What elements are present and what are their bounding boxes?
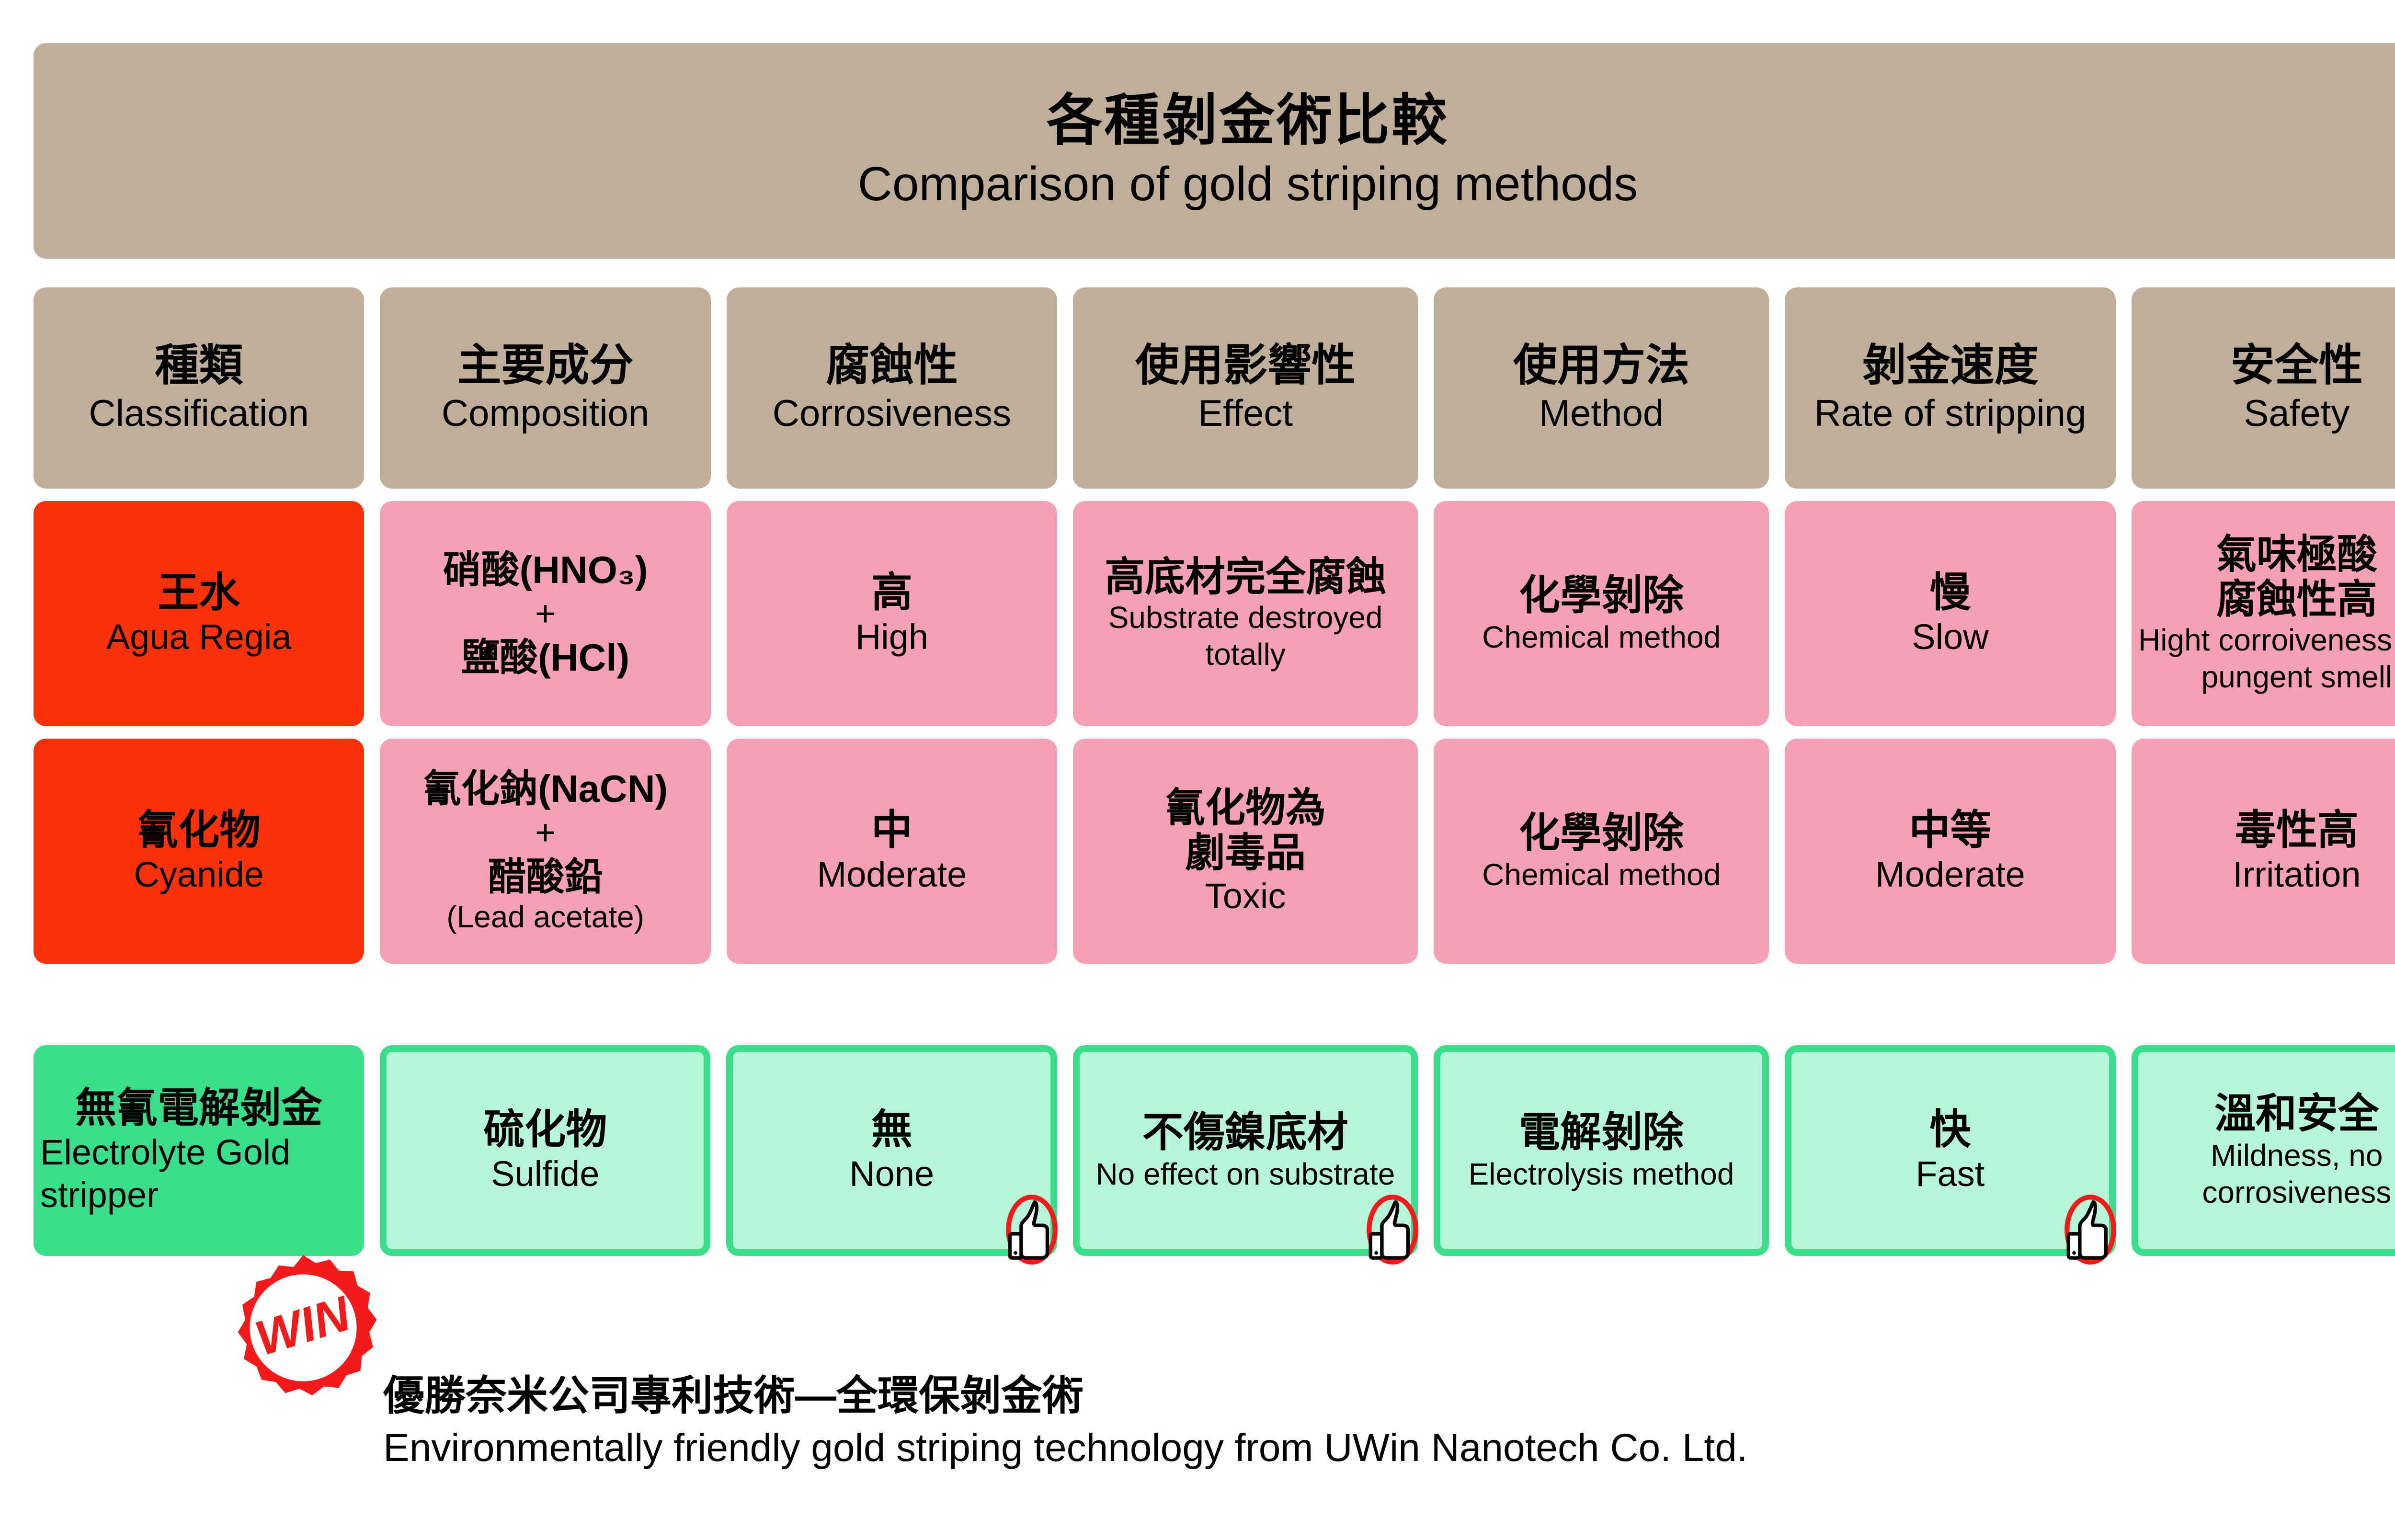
value-en: Toxic — [1205, 875, 1286, 918]
grid-gap — [1769, 739, 1785, 964]
value-en: No effect on substrate — [1095, 1156, 1395, 1193]
header-en: Classification — [89, 391, 309, 436]
cell-method-cyanide: 化學剝除 Chemical method — [1434, 739, 1769, 964]
grid-gap — [711, 501, 727, 726]
value-zh: 溫和安全 — [2214, 1090, 2379, 1137]
grid-gap — [364, 287, 380, 489]
header-zh: 使用方法 — [1513, 341, 1689, 391]
title-banner: 各種剝金術比較 Comparison of gold striping meth… — [34, 43, 2395, 259]
value-zh: 化學剝除 — [1519, 572, 1684, 619]
column-header-safety: 安全性 Safety — [2132, 287, 2395, 489]
cell-safety-agua-regia: 氣味極酸 腐蝕性高 Hight corroiveness with pungen… — [2132, 501, 2395, 726]
row-label-electrolyte-gold-stripper: 無氰電解剝金 Electrolyte Gold stripper — [34, 1045, 364, 1256]
value-en: Irritation — [2233, 854, 2361, 896]
win-seal-badge: WIN — [229, 1254, 377, 1402]
row-label-cyanide: 氰化物 Cyanide — [34, 739, 364, 964]
composition-line-2: 醋酸鉛 — [488, 855, 603, 899]
grid-gap — [1057, 739, 1073, 964]
grid-gap — [1769, 1045, 1785, 1256]
thumbs-up-icon — [1004, 1194, 1060, 1266]
header-zh: 主要成分 — [457, 341, 634, 391]
header-en: Rate of stripping — [1814, 391, 2086, 436]
grid-gap — [2116, 501, 2132, 726]
header-en: Composition — [442, 391, 650, 436]
value-zh: 毒性高 — [2235, 807, 2359, 854]
row-label-agua-regia: 王水 Agua Regia — [34, 501, 364, 726]
value-en: Fast — [1916, 1153, 1984, 1196]
table-row: 王水 Agua Regia 硝酸(HNO₃) + 鹽酸(HCl) 高 High … — [34, 501, 2395, 726]
grid-gap — [1769, 287, 1785, 489]
value-zh: 無 — [871, 1106, 912, 1153]
grid-gap — [1769, 501, 1785, 726]
value-zh: 氣味極酸 腐蝕性高 — [2216, 532, 2377, 622]
column-header-effect: 使用影響性 Effect — [1073, 287, 1418, 489]
cell-composition-electrolyte: 硫化物 Sulfide — [380, 1045, 710, 1256]
cell-composition-agua-regia: 硝酸(HNO₃) + 鹽酸(HCl) — [380, 501, 710, 726]
grid-gap — [364, 1045, 380, 1256]
grid-gap — [364, 739, 380, 964]
bottom-caption: 優勝奈米公司專利技術—全環保剝金術 Environmentally friend… — [383, 1371, 2251, 1472]
cell-method-electrolyte: 電解剝除 Electrolysis method — [1434, 1045, 1769, 1256]
value-en: Sulfide — [491, 1153, 599, 1196]
title-english: Comparison of gold striping methods — [858, 156, 1638, 212]
value-en: Electrolysis method — [1469, 1156, 1734, 1193]
header-zh: 種類 — [155, 341, 243, 391]
value-zh: 電解剝除 — [1519, 1109, 1684, 1156]
caption-english: Environmentally friendly gold striping t… — [383, 1424, 2251, 1472]
value-en: Moderate — [817, 854, 967, 896]
composition-line-1: 硝酸(HNO₃) — [443, 548, 648, 592]
table-row: 氰化物 Cyanide 氰化鈉(NaCN) + 醋酸鉛 (Lead acetat… — [34, 739, 2395, 964]
value-zh: 氰化物為 劇毒品 — [1165, 785, 1326, 875]
value-zh: 中等 — [1909, 807, 1991, 854]
value-en: Mildness, no corrosiveness — [2145, 1137, 2395, 1211]
header-zh: 安全性 — [2231, 341, 2363, 391]
column-header-classification: 種類 Classification — [34, 287, 364, 489]
value-en: Moderate — [1875, 854, 2025, 896]
title-chinese: 各種剝金術比較 — [1047, 90, 1449, 152]
table-row: 無氰電解剝金 Electrolyte Gold stripper 硫化物 Sul… — [34, 1045, 2395, 1256]
cell-safety-cyanide: 毒性高 Irritation — [2132, 739, 2395, 964]
header-zh: 使用影響性 — [1135, 341, 1356, 391]
value-zh: 快 — [1929, 1106, 1971, 1153]
value-en: Substrate destroyed totally — [1080, 599, 1411, 673]
value-en: Chemical method — [1482, 856, 1721, 893]
cell-effect-electrolyte: 不傷鎳底材 No effect on substrate — [1073, 1045, 1418, 1256]
composition-line-2: 鹽酸(HCl) — [461, 636, 629, 679]
thumbs-up-icon — [1364, 1194, 1421, 1266]
value-en: None — [849, 1153, 934, 1196]
value-en: High — [855, 616, 928, 659]
header-en: Method — [1539, 391, 1664, 436]
header-en: Safety — [2244, 391, 2349, 436]
cell-rate-agua-regia: 慢 Slow — [1785, 501, 2115, 726]
grid-gap — [1418, 739, 1434, 964]
grid-gap — [1057, 287, 1073, 489]
cell-effect-agua-regia: 高底材完全腐蝕 Substrate destroyed totally — [1073, 501, 1418, 726]
column-header-composition: 主要成分 Composition — [380, 287, 710, 489]
cell-rate-cyanide: 中等 Moderate — [1785, 739, 2115, 964]
value-zh: 高底材完全腐蝕 — [1105, 554, 1386, 599]
comparison-grid: 種類 Classification 主要成分 Composition 腐蝕性 C… — [34, 287, 2395, 1256]
thumbs-up-icon — [2062, 1194, 2119, 1266]
header-en: Corrosiveness — [773, 391, 1012, 436]
grid-gap — [1418, 287, 1434, 489]
value-en: Slow — [1912, 616, 1988, 659]
cell-safety-electrolyte: 溫和安全 Mildness, no corrosiveness — [2132, 1045, 2395, 1256]
composition-plus: + — [535, 592, 556, 636]
comparison-table-sheet: 各種剝金術比較 Comparison of gold striping meth… — [0, 0, 2395, 1540]
cell-rate-electrolyte: 快 Fast — [1785, 1045, 2115, 1256]
value-zh: 不傷鎳底材 — [1142, 1109, 1348, 1156]
cell-corrosiveness-electrolyte: 無 None — [726, 1045, 1057, 1256]
cell-corrosiveness-agua-regia: 高 High — [727, 501, 1057, 726]
grid-gap — [1418, 501, 1434, 726]
header-zh: 腐蝕性 — [826, 341, 958, 391]
row-label-zh: 無氰電解剝金 — [75, 1084, 322, 1131]
grid-gap — [2116, 739, 2132, 964]
row-label-en: Cyanide — [134, 854, 264, 896]
table-header-row: 種類 Classification 主要成分 Composition 腐蝕性 C… — [34, 287, 2395, 489]
column-header-corrosiveness: 腐蝕性 Corrosiveness — [727, 287, 1057, 489]
value-zh: 中 — [871, 807, 912, 854]
value-zh: 硫化物 — [483, 1106, 607, 1153]
composition-line-1: 氰化鈉(NaCN) — [423, 767, 668, 810]
row-label-zh: 氰化物 — [137, 807, 261, 854]
value-en: Chemical method — [1482, 619, 1721, 656]
grid-gap — [364, 501, 380, 726]
cell-composition-cyanide: 氰化鈉(NaCN) + 醋酸鉛 (Lead acetate) — [380, 739, 710, 964]
row-label-zh: 王水 — [158, 569, 240, 616]
row-label-en: Electrolyte Gold stripper — [40, 1131, 357, 1217]
header-en: Effect — [1198, 391, 1293, 436]
column-header-method: 使用方法 Method — [1434, 287, 1769, 489]
cell-corrosiveness-cyanide: 中 Moderate — [727, 739, 1057, 964]
grid-gap — [711, 287, 727, 489]
header-zh: 剝金速度 — [1862, 341, 2038, 391]
value-zh: 化學剝除 — [1519, 810, 1684, 856]
row-label-en: Agua Regia — [106, 616, 292, 659]
grid-gap — [710, 1045, 726, 1256]
composition-plus: + — [535, 810, 556, 855]
caption-chinese: 優勝奈米公司專利技術—全環保剝金術 — [383, 1371, 2251, 1421]
column-header-rate-of-stripping: 剝金速度 Rate of stripping — [1785, 287, 2115, 489]
value-zh: 慢 — [1929, 569, 1971, 616]
composition-line-3: (Lead acetate) — [446, 899, 644, 935]
value-zh: 高 — [871, 569, 912, 616]
grid-gap — [711, 739, 727, 964]
cell-effect-cyanide: 氰化物為 劇毒品 Toxic — [1073, 739, 1418, 964]
grid-gap — [2116, 287, 2132, 489]
value-en: Hight corroiveness with pungent smell — [2138, 622, 2395, 696]
grid-gap — [1057, 501, 1073, 726]
cell-method-agua-regia: 化學剝除 Chemical method — [1434, 501, 1769, 726]
